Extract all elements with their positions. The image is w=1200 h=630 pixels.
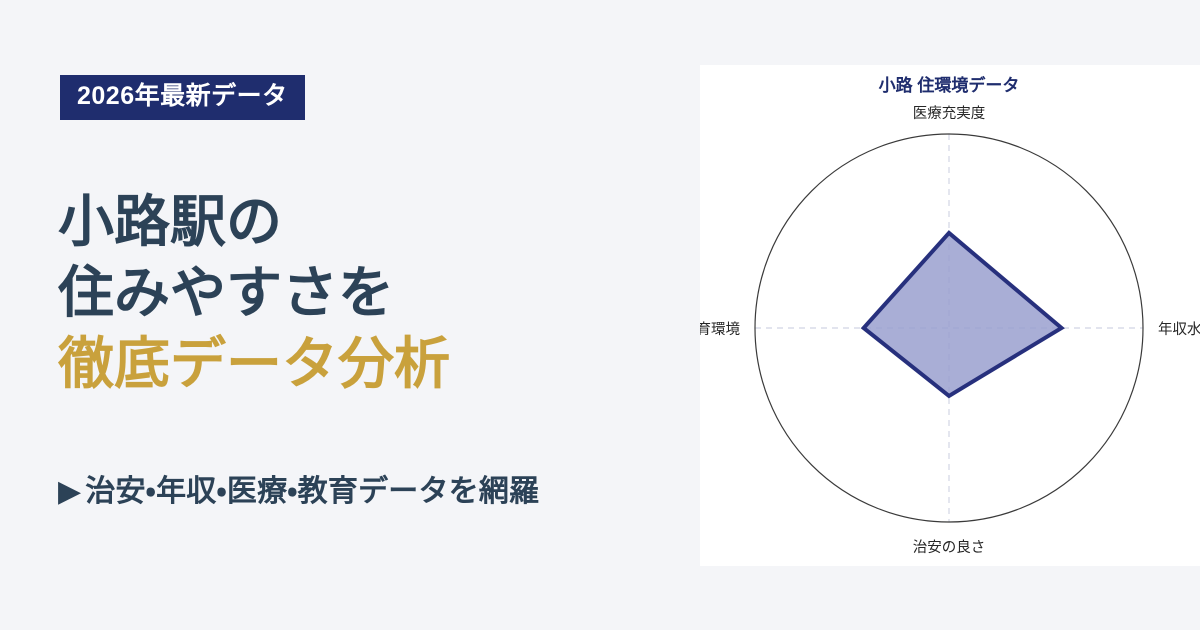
radar-chart: 小路 住環境データ 医療充実度 年収水準 治安の良さ 教育環境 [700,65,1200,566]
page-title: 小路駅の 住みやすさを 徹底データ分析 [58,186,698,399]
axis-label-left: 教育環境 [700,321,740,338]
headline-line-2: 住みやすさを [58,257,698,328]
left-text-column: 2026年最新データ 小路駅の 住みやすさを 徹底データ分析 ▶治安・年収・医療… [0,0,700,630]
axis-label-bottom: 治安の良さ [913,539,986,556]
headline-line-3: 徹底データ分析 [58,328,698,399]
subtitle: ▶治安・年収・医療・教育データを網羅 [58,466,539,510]
axis-label-right: 年収水準 [1158,321,1200,338]
headline-line-1: 小路駅の [58,186,698,257]
subtitle-text: 治安・年収・医療・教育データを網羅 [85,475,539,508]
chart-title: 小路 住環境データ [879,75,1020,95]
poster-canvas: 2026年最新データ 小路駅の 住みやすさを 徹底データ分析 ▶治安・年収・医療… [0,0,1200,630]
date-badge: 2026年最新データ [60,75,305,120]
chart-panel: 小路 住環境データ 医療充実度 年収水準 治安の良さ 教育環境 [700,65,1200,566]
radar-data-polygon [864,233,1062,396]
axis-label-top: 医療充実度 [913,105,986,122]
triangle-right-icon: ▶ [58,474,81,509]
